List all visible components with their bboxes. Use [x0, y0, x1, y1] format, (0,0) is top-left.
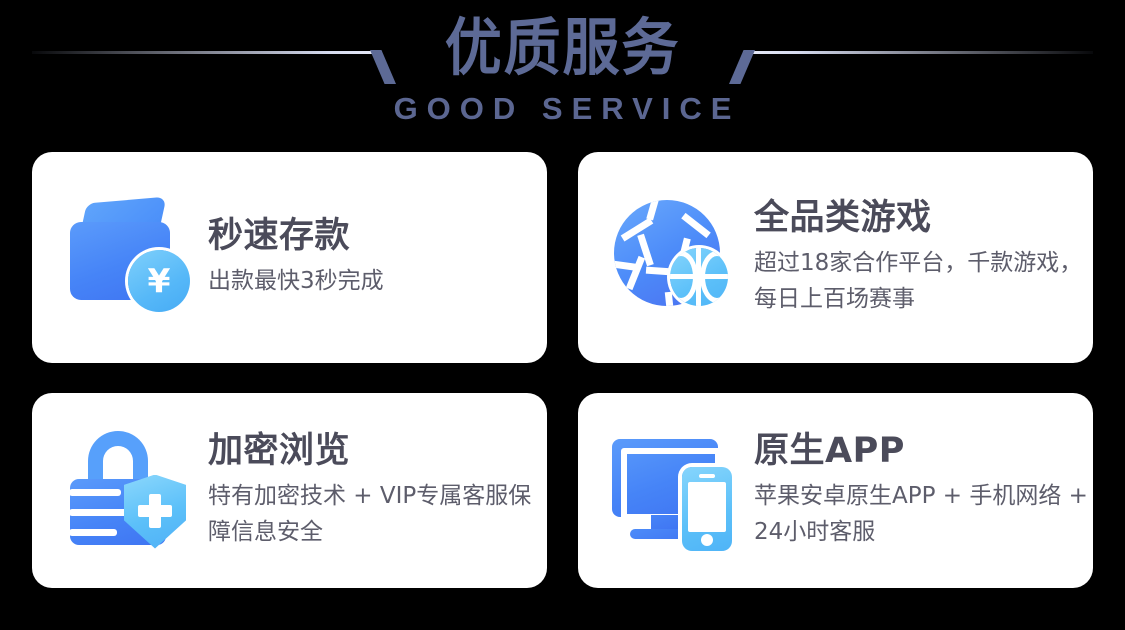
feature-subtitle: 苹果安卓原生APP + 手机网络 + 24小时客服	[754, 478, 1093, 550]
feature-subtitle: 出款最快3秒完成	[208, 263, 384, 299]
feature-card-grid: ¥ 秒速存款 出款最快3秒完成 全品类游戏 超过18家合作平台，千款游戏，每日上…	[32, 152, 1093, 588]
feature-subtitle: 超过18家合作平台，千款游戏，每日上百场赛事	[754, 245, 1093, 317]
feature-title: 加密浏览	[208, 428, 547, 474]
feature-subtitle: 特有加密技术 + VIP专属客服保障信息安全	[208, 478, 547, 550]
monitor-phone-icon	[608, 425, 740, 557]
feature-card-text: 全品类游戏 超过18家合作平台，千款游戏，每日上百场赛事	[754, 195, 1093, 321]
header-title-group: 优质服务 GOOD SERVICE	[0, 6, 1125, 128]
page-title: 优质服务	[45, 6, 1080, 90]
feature-card-encryption[interactable]: 加密浏览 特有加密技术 + VIP专属客服保障信息安全	[32, 393, 547, 588]
feature-title: 原生APP	[754, 428, 1093, 474]
lock-shield-icon	[62, 425, 194, 557]
feature-card-native-app[interactable]: 原生APP 苹果安卓原生APP + 手机网络 + 24小时客服	[578, 393, 1093, 588]
feature-card-games[interactable]: 全品类游戏 超过18家合作平台，千款游戏，每日上百场赛事	[578, 152, 1093, 363]
basketball-shape	[670, 248, 728, 306]
feature-card-text: 秒速存款 出款最快3秒完成	[208, 213, 384, 303]
feature-card-text: 加密浏览 特有加密技术 + VIP专属客服保障信息安全	[208, 428, 547, 554]
feature-title: 秒速存款	[208, 213, 384, 259]
soccer-basketball-icon	[608, 192, 740, 324]
yen-symbol: ¥	[148, 264, 171, 297]
wallet-yen-icon: ¥	[62, 192, 194, 324]
page-header: 优质服务 GOOD SERVICE	[0, 0, 1125, 142]
feature-card-text: 原生APP 苹果安卓原生APP + 手机网络 + 24小时客服	[754, 428, 1093, 554]
feature-title: 全品类游戏	[754, 195, 1093, 241]
feature-card-deposit[interactable]: ¥ 秒速存款 出款最快3秒完成	[32, 152, 547, 363]
page-subtitle: GOOD SERVICE	[0, 90, 1125, 128]
yen-coin-shape: ¥	[128, 250, 190, 312]
phone-shape	[682, 467, 732, 551]
